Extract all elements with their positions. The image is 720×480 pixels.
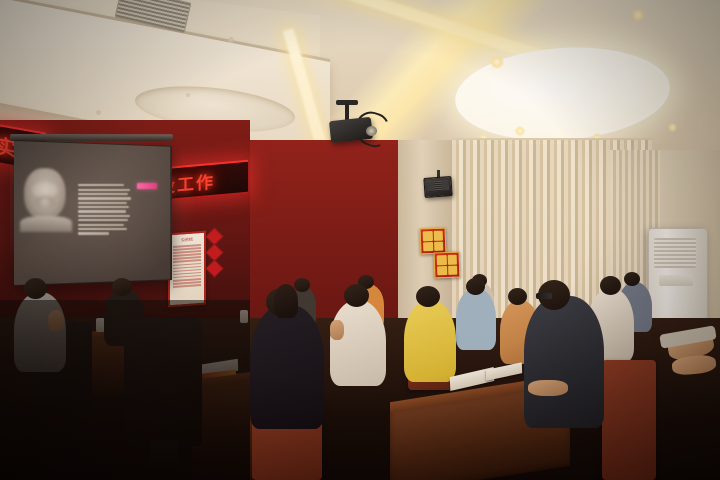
wall-plaque-lower [434,252,461,279]
attendee-head [624,272,640,286]
recessed-downlight [668,123,677,132]
attendee-head [600,276,621,295]
recessed-downlight [490,55,504,69]
ceiling-fitting-dot [228,37,234,43]
wall-plaque-upper [420,228,447,255]
slide-body-text [78,182,132,234]
eyeglasses-icon [536,293,552,299]
recessed-downlight [515,126,525,136]
attendee-head [344,284,369,307]
attendee-black-dress [250,305,324,429]
air-conditioner-control-panel [659,275,693,286]
attendee-hair [274,284,298,318]
slide-portrait-chin [36,196,54,208]
ceiling-fitting-dot [96,110,101,115]
meeting-room-photo: 实 设工作 公示栏 [0,0,720,480]
attendee-head [466,278,485,295]
wall-notice-poster: 公示栏 [168,231,206,308]
recessed-downlight [632,9,644,21]
attendee-head [112,278,132,296]
attendee-head [24,278,47,299]
attendee-yellow-shirt [404,300,456,382]
attendee-head [416,286,440,307]
slide-portrait-shoulders [20,216,72,232]
attendee-white-polo [330,300,386,386]
attendee-arm [330,320,344,340]
attendee-arm [528,380,568,396]
air-conditioner-vent-grille [654,238,696,268]
attendee-head [294,278,310,292]
wooden-conference-chair [602,360,656,480]
slide-highlight-tag [137,183,157,189]
foreground-shadow [0,300,250,480]
chinese-knot-decoration [207,230,221,290]
ceiling-fitting-dot [186,93,190,97]
attendee-head [508,288,527,305]
poster-title: 公示栏 [170,236,204,244]
attendee-light-blue [456,288,496,350]
attendee-dark-glasses [524,296,604,428]
wall-mounted-speaker-icon [423,176,452,198]
